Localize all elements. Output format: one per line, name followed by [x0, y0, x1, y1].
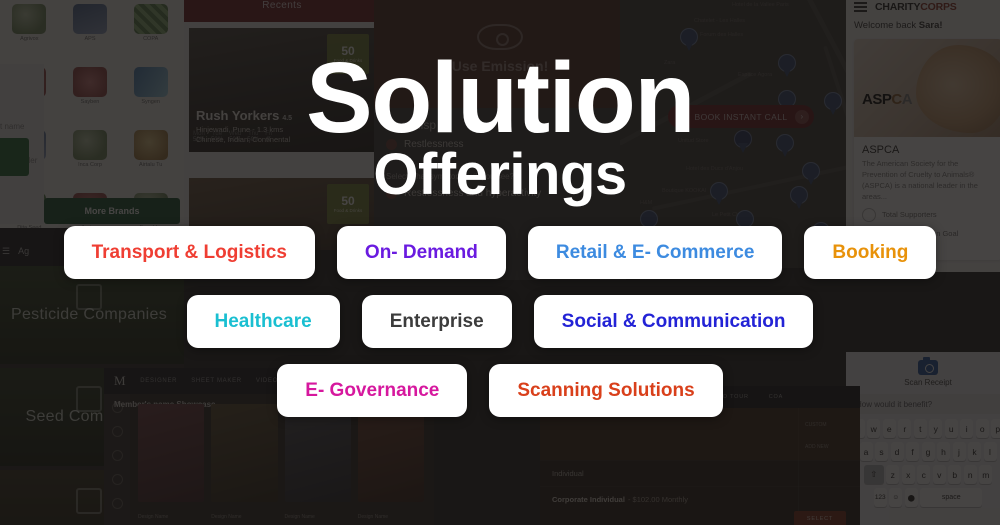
category-pill-label: Scanning Solutions	[517, 380, 694, 402]
category-pill-e-governance[interactable]: E- Governance	[277, 364, 467, 417]
category-pill-retail-ecommerce[interactable]: Retail & E- Commerce	[528, 226, 783, 279]
page-title: Solution Offerings	[306, 52, 694, 204]
category-pill-label: Booking	[832, 242, 908, 264]
category-pill-label: Enterprise	[390, 311, 484, 333]
category-pill-label: On- Demand	[365, 242, 478, 264]
category-pill-row-1: Transport & Logistics On- Demand Retail …	[0, 226, 1000, 279]
category-pill-row-2: Healthcare Enterprise Social & Communica…	[0, 295, 1000, 348]
category-pill-social-communication[interactable]: Social & Communication	[534, 295, 814, 348]
foreground-content: Solution Offerings Transport & Logistics…	[0, 0, 1000, 525]
category-pill-enterprise[interactable]: Enterprise	[362, 295, 512, 348]
category-pill-label: Healthcare	[215, 311, 312, 333]
category-pill-healthcare[interactable]: Healthcare	[187, 295, 340, 348]
category-pill-on-demand[interactable]: On- Demand	[337, 226, 506, 279]
category-pill-scanning-solutions[interactable]: Scanning Solutions	[489, 364, 722, 417]
category-pill-group: Transport & Logistics On- Demand Retail …	[0, 226, 1000, 433]
slide-root: Agrivox APS COPA Orkin Sayben Syngen Gre…	[0, 0, 1000, 525]
title-line-2: Offerings	[306, 146, 694, 204]
category-pill-label: Transport & Logistics	[92, 242, 287, 264]
category-pill-transport-logistics[interactable]: Transport & Logistics	[64, 226, 315, 279]
category-pill-booking[interactable]: Booking	[804, 226, 936, 279]
category-pill-label: E- Governance	[305, 380, 439, 402]
category-pill-label: Social & Communication	[562, 311, 786, 333]
category-pill-row-3: E- Governance Scanning Solutions	[0, 364, 1000, 417]
title-line-1: Solution	[306, 52, 694, 144]
category-pill-label: Retail & E- Commerce	[556, 242, 755, 264]
